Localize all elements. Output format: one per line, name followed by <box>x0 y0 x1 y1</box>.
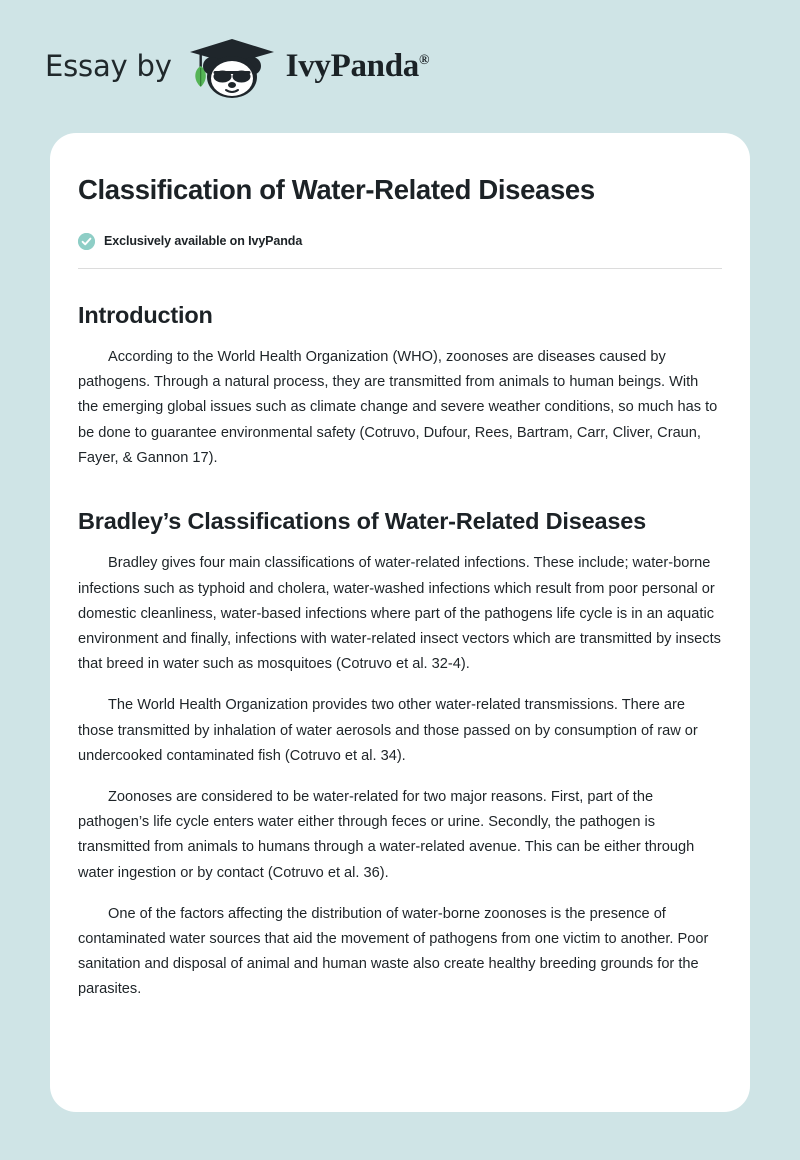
section-heading-bradleys-classifications: Bradley’s Classifications of Water-Relat… <box>78 505 722 537</box>
exclusive-availability-badge: Exclusively available on IvyPanda <box>76 233 724 250</box>
essay-content: Classification of Water-Related Diseases… <box>76 173 724 1003</box>
page-title: Classification of Water-Related Diseases <box>76 173 724 207</box>
header-divider <box>78 268 722 269</box>
paragraph: The World Health Organization provides t… <box>78 693 722 769</box>
essay-by-label: Essay by <box>45 52 172 81</box>
paragraph: According to the World Health Organizati… <box>78 345 722 471</box>
ivypanda-wordmark: IvyPanda® <box>286 50 429 83</box>
paragraph: One of the factors affecting the distrib… <box>78 902 722 1003</box>
ivypanda-logo-lockup[interactable]: Essay by <box>45 33 429 101</box>
availability-label: Exclusively available on IvyPanda <box>104 234 302 248</box>
brand-header: Essay by <box>0 0 800 133</box>
paragraph: Bradley gives four main classifications … <box>78 551 722 677</box>
registered-trademark-symbol: ® <box>419 53 429 68</box>
essay-paper-card: Classification of Water-Related Diseases… <box>50 133 750 1112</box>
section-heading-introduction: Introduction <box>78 299 722 331</box>
check-circle-icon <box>78 233 95 250</box>
paragraph: Zoonoses are considered to be water-rela… <box>78 785 722 886</box>
ivypanda-wordmark-text: IvyPanda <box>286 48 419 84</box>
panda-graduate-icon <box>184 33 280 99</box>
